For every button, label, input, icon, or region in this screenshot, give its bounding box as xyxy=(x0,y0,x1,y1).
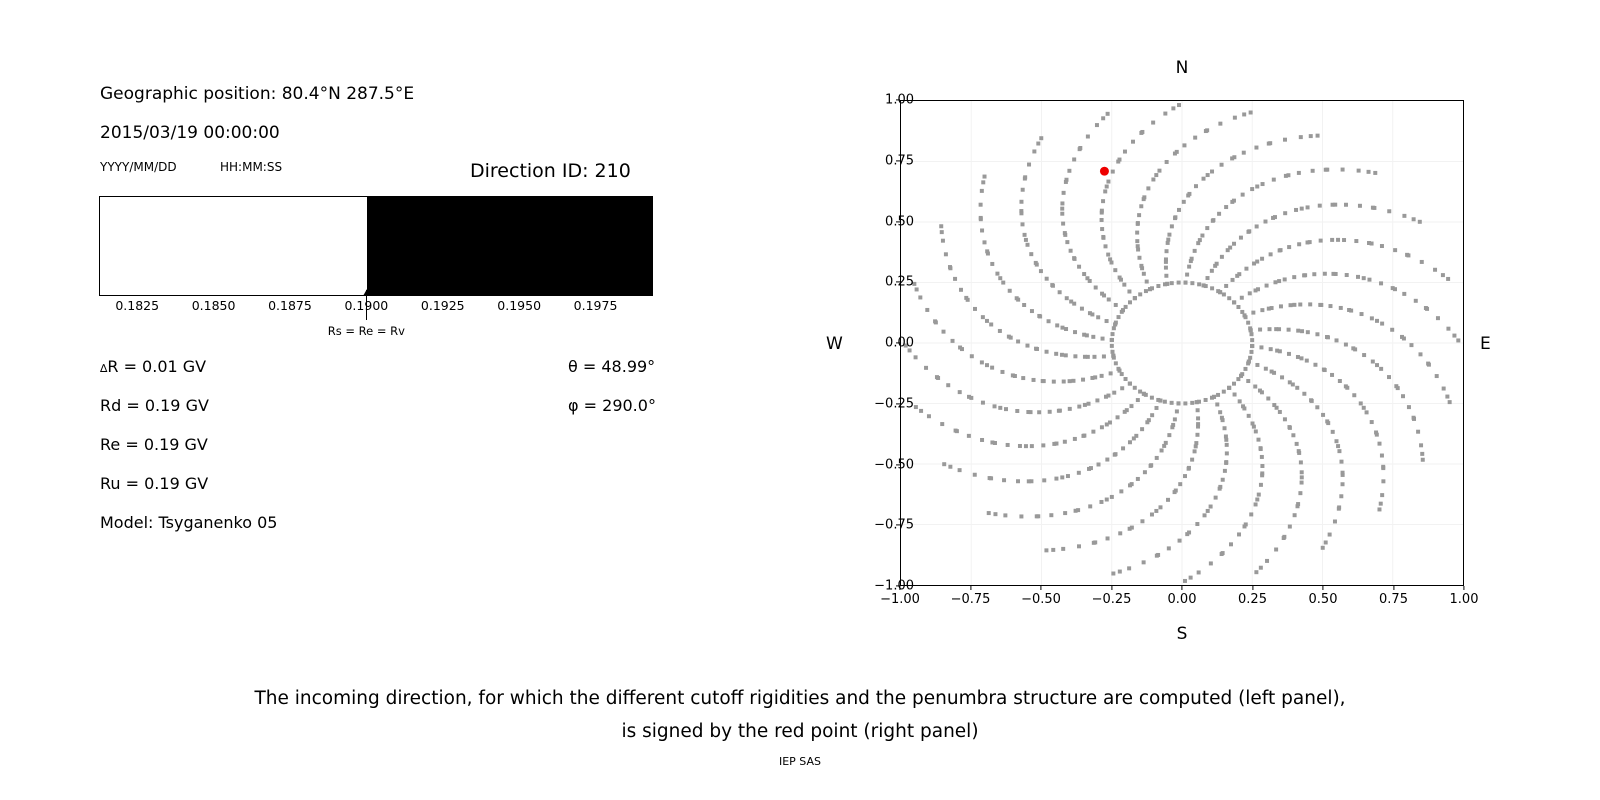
direction-point xyxy=(1052,380,1056,384)
direction-point xyxy=(1029,479,1033,483)
direction-point xyxy=(1379,502,1383,506)
direction-point xyxy=(1365,410,1369,414)
direction-point xyxy=(1140,427,1144,431)
direction-point xyxy=(1309,398,1313,402)
direction-point xyxy=(1359,401,1363,405)
scatter-xtick-mark xyxy=(1252,586,1253,590)
direction-point xyxy=(1246,379,1250,383)
direction-point xyxy=(1296,329,1300,333)
direction-point xyxy=(1240,296,1244,300)
datetime-text: 2015/03/19 00:00:00 xyxy=(100,123,280,143)
direction-point xyxy=(1023,233,1027,237)
direction-point xyxy=(1088,311,1092,315)
direction-point xyxy=(1052,442,1056,446)
direction-point xyxy=(1273,280,1277,284)
direction-point xyxy=(1092,541,1096,545)
direction-point xyxy=(1297,171,1301,175)
direction-point xyxy=(1128,483,1132,487)
direction-point xyxy=(1044,548,1048,552)
direction-point xyxy=(1216,289,1220,293)
direction-point xyxy=(1249,110,1253,114)
direction-point xyxy=(1114,303,1118,307)
scatter-ytick-mark xyxy=(896,403,900,404)
direction-point xyxy=(1300,481,1304,485)
direction-point xyxy=(1300,470,1304,474)
direction-point xyxy=(1217,212,1221,216)
direction-point xyxy=(1183,579,1187,583)
direction-point xyxy=(1379,281,1383,285)
direction-point xyxy=(1068,379,1072,383)
direction-point xyxy=(1082,333,1086,337)
direction-point xyxy=(1196,408,1200,412)
direction-point xyxy=(1341,168,1345,172)
scatter-ytick-mark xyxy=(896,525,900,526)
direction-point xyxy=(1336,444,1340,448)
direction-point xyxy=(1358,204,1362,208)
direction-point xyxy=(1155,554,1159,558)
direction-point xyxy=(1381,479,1385,483)
direction-point xyxy=(1019,514,1023,518)
direction-point xyxy=(1116,367,1120,371)
direction-point xyxy=(1178,482,1182,486)
time-format-hint: HH:MM:SS xyxy=(220,160,282,174)
direction-point xyxy=(1255,224,1259,228)
direction-point xyxy=(1323,272,1327,276)
direction-point xyxy=(1139,264,1143,268)
direction-point xyxy=(1260,308,1264,312)
direction-point xyxy=(1246,321,1250,325)
scatter-ytick-label: −0.25 xyxy=(874,396,914,411)
direction-point xyxy=(1254,429,1258,433)
direction-point xyxy=(1170,425,1174,429)
direction-point xyxy=(1263,220,1267,224)
direction-point xyxy=(1015,409,1019,413)
direction-point xyxy=(1183,474,1187,478)
scatter-plot-canvas xyxy=(901,101,1463,585)
direction-point xyxy=(1000,370,1004,374)
direction-point xyxy=(1308,302,1312,306)
direction-point xyxy=(1100,425,1104,429)
direction-point xyxy=(1120,386,1124,390)
direction-point xyxy=(1156,284,1160,288)
direction-point xyxy=(1260,390,1264,394)
direction-point xyxy=(1157,169,1161,173)
direction-point xyxy=(1390,328,1394,332)
direction-point xyxy=(1297,451,1301,455)
direction-point xyxy=(1250,338,1254,342)
direction-point xyxy=(1309,134,1313,138)
direction-point xyxy=(1196,241,1200,245)
direction-point xyxy=(1047,319,1051,323)
direction-point xyxy=(1406,253,1410,257)
direction-point xyxy=(1069,249,1073,253)
direction-point xyxy=(1194,441,1198,445)
direction-point xyxy=(951,339,955,343)
direction-point xyxy=(1238,399,1242,403)
direction-point xyxy=(1215,402,1219,406)
direction-point xyxy=(1061,222,1065,226)
direction-point xyxy=(1237,532,1241,536)
direction-point xyxy=(1248,291,1252,295)
figure-caption: The incoming direction, for which the di… xyxy=(0,682,1600,748)
direction-point xyxy=(1111,170,1115,174)
direction-point xyxy=(1019,200,1023,204)
direction-point xyxy=(1110,338,1114,342)
direction-point xyxy=(1236,377,1240,381)
direction-point xyxy=(1206,173,1210,177)
direction-point xyxy=(989,322,993,326)
direction-point xyxy=(1196,416,1200,420)
direction-point xyxy=(1062,380,1066,384)
direction-point xyxy=(1427,363,1431,367)
direction-point xyxy=(1214,496,1218,500)
direction-point xyxy=(1193,249,1197,253)
direction-point xyxy=(1038,314,1042,318)
direction-point xyxy=(1258,328,1262,332)
direction-point xyxy=(979,216,983,220)
direction-point xyxy=(1133,386,1137,390)
direction-point xyxy=(1177,208,1181,212)
direction-point xyxy=(1023,175,1027,179)
direction-point xyxy=(1246,230,1250,234)
direction-point xyxy=(1025,344,1029,348)
direction-point xyxy=(1336,238,1340,242)
direction-point xyxy=(1330,373,1334,377)
direction-point xyxy=(1244,315,1248,319)
direction-point xyxy=(1215,262,1219,266)
direction-point xyxy=(973,307,977,311)
direction-point xyxy=(1291,433,1295,437)
direction-point xyxy=(1149,463,1153,467)
direction-point xyxy=(1341,471,1345,475)
direction-point xyxy=(980,360,984,364)
direction-point xyxy=(1110,344,1114,348)
direction-point xyxy=(1242,112,1246,116)
direction-point xyxy=(1319,239,1323,243)
direction-point xyxy=(1073,437,1077,441)
direction-point xyxy=(1058,290,1062,294)
direction-point xyxy=(1338,379,1342,383)
direction-point xyxy=(1400,335,1404,339)
direction-point xyxy=(1401,394,1405,398)
direction-point xyxy=(1087,467,1091,471)
direction-point xyxy=(1224,460,1228,464)
direction-point xyxy=(1277,327,1281,331)
direction-point xyxy=(1060,212,1064,216)
direction-point xyxy=(1151,177,1155,181)
direction-point xyxy=(1287,425,1291,429)
direction-point xyxy=(1349,309,1353,313)
direction-point xyxy=(1195,433,1199,437)
direction-point xyxy=(1190,458,1194,462)
direction-point xyxy=(1029,252,1033,256)
direction-point xyxy=(940,230,944,234)
direction-point xyxy=(1374,430,1378,434)
direction-point xyxy=(1136,248,1140,252)
direction-point xyxy=(1101,199,1105,203)
direction-point xyxy=(981,180,985,184)
direction-point xyxy=(1151,121,1155,125)
direction-point xyxy=(1137,213,1141,217)
direction-point xyxy=(969,396,973,400)
direction-point xyxy=(1167,546,1171,550)
direction-point xyxy=(981,401,985,405)
direction-point xyxy=(1083,355,1087,359)
direction-point xyxy=(1295,386,1299,390)
direction-point xyxy=(1292,275,1296,279)
direction-point xyxy=(1064,327,1068,331)
direction-point xyxy=(1277,279,1281,283)
direction-point xyxy=(1354,239,1358,243)
direction-point xyxy=(1150,286,1154,290)
direction-point xyxy=(933,319,937,323)
direction-point xyxy=(1037,410,1041,414)
direction-point xyxy=(1260,464,1264,468)
param-re: Re = 0.19 GV xyxy=(100,435,208,454)
direction-point xyxy=(1088,279,1092,283)
direction-point xyxy=(1203,513,1207,517)
direction-point xyxy=(1178,539,1182,543)
direction-point xyxy=(1170,224,1174,228)
direction-point xyxy=(1328,304,1332,308)
direction-point xyxy=(1240,372,1244,376)
direction-point xyxy=(1221,478,1225,482)
geographic-position-text: Geographic position: 80.4°N 287.5°E xyxy=(100,84,414,104)
direction-point xyxy=(1048,410,1052,414)
direction-point xyxy=(1318,204,1322,208)
direction-point xyxy=(1272,371,1276,375)
direction-point xyxy=(1193,136,1197,140)
direction-point xyxy=(958,390,962,394)
direction-point xyxy=(1021,188,1025,192)
direction-point xyxy=(1339,306,1343,310)
caption-line-1: The incoming direction, for which the di… xyxy=(0,682,1600,715)
direction-point xyxy=(1375,363,1379,367)
direction-point xyxy=(1362,406,1366,410)
direction-point xyxy=(1210,170,1214,174)
direction-point xyxy=(1391,286,1395,290)
direction-point xyxy=(1051,548,1055,552)
direction-point xyxy=(1230,156,1234,160)
direction-point xyxy=(1218,122,1222,126)
direction-point xyxy=(1061,326,1065,330)
direction-point xyxy=(1433,268,1437,272)
direction-point xyxy=(1296,502,1300,506)
direction-point xyxy=(1259,483,1263,487)
direction-point xyxy=(1064,180,1068,184)
direction-point xyxy=(1194,184,1198,188)
direction-point xyxy=(1378,442,1382,446)
direction-point xyxy=(1185,273,1189,277)
direction-point xyxy=(1254,146,1258,150)
direction-point xyxy=(1242,406,1246,410)
direction-point xyxy=(993,404,997,408)
direction-point xyxy=(1049,513,1053,517)
direction-point xyxy=(1154,509,1158,513)
direction-point xyxy=(1232,199,1236,203)
direction-point xyxy=(1324,540,1328,544)
direction-point xyxy=(1375,319,1379,323)
direction-point xyxy=(1299,135,1303,139)
direction-point xyxy=(1099,500,1103,504)
scatter-ytick-mark xyxy=(896,464,900,465)
direction-point xyxy=(1244,267,1248,271)
direction-point xyxy=(1142,195,1146,199)
param-rd: Rd = 0.19 GV xyxy=(100,396,209,415)
direction-point xyxy=(1288,525,1292,529)
direction-point xyxy=(1187,192,1191,196)
direction-point xyxy=(1167,233,1171,237)
direction-point xyxy=(1372,206,1376,210)
direction-point xyxy=(1054,477,1058,481)
direction-point xyxy=(1136,477,1140,481)
penumbra-structure-plot: 0.18250.18500.18750.19000.19250.19500.19… xyxy=(99,196,653,296)
direction-point xyxy=(1402,214,1406,218)
direction-point xyxy=(1216,393,1220,397)
direction-point xyxy=(1311,169,1315,173)
direction-point xyxy=(1416,430,1420,434)
direction-point xyxy=(1133,296,1137,300)
direction-point xyxy=(1232,242,1236,246)
direction-point xyxy=(1138,390,1142,394)
direction-point xyxy=(1045,277,1049,281)
direction-point xyxy=(1197,570,1201,574)
direction-point xyxy=(1189,576,1193,580)
direction-point xyxy=(1105,458,1109,462)
direction-point xyxy=(1092,355,1096,359)
direction-point xyxy=(919,409,923,413)
direction-point xyxy=(980,189,984,193)
direction-point xyxy=(1283,138,1287,142)
direction-point xyxy=(1137,256,1141,260)
direction-point xyxy=(1077,265,1081,269)
direction-point xyxy=(1051,284,1055,288)
direction-point xyxy=(1242,151,1246,155)
direction-point xyxy=(1136,222,1140,226)
direction-point xyxy=(1100,227,1104,231)
direction-point xyxy=(1061,547,1065,551)
direction-point xyxy=(1328,533,1332,537)
direction-point xyxy=(1227,386,1231,390)
direction-point xyxy=(985,319,989,323)
direction-point xyxy=(1039,269,1043,273)
direction-point xyxy=(1120,372,1124,376)
direction-point xyxy=(1138,292,1142,296)
direction-point xyxy=(946,383,950,387)
direction-point xyxy=(1360,312,1364,316)
direction-point xyxy=(1419,443,1423,447)
direction-point xyxy=(941,239,945,243)
direction-point xyxy=(1072,302,1076,306)
direction-point xyxy=(1330,238,1334,242)
direction-point xyxy=(1073,354,1077,358)
direction-point xyxy=(1062,191,1066,195)
direction-point xyxy=(1315,405,1319,409)
direction-point xyxy=(1256,287,1260,291)
direction-point xyxy=(1339,494,1343,498)
direction-point xyxy=(1294,208,1298,212)
direction-point xyxy=(1019,211,1023,215)
direction-point xyxy=(1112,326,1116,330)
scatter-xtick-mark xyxy=(1393,586,1394,590)
direction-point xyxy=(1225,451,1229,455)
scatter-xtick-mark xyxy=(1322,586,1323,590)
direction-point xyxy=(1308,240,1312,244)
direction-point xyxy=(1063,231,1067,235)
direction-point xyxy=(1197,282,1201,286)
direction-point xyxy=(1337,507,1341,511)
direction-point xyxy=(1106,253,1110,257)
direction-point xyxy=(1129,404,1133,408)
direction-point xyxy=(1418,220,1422,224)
direction-point xyxy=(995,272,999,276)
direction-point xyxy=(1222,390,1226,394)
direction-point xyxy=(1302,392,1306,396)
direction-point xyxy=(1264,367,1268,371)
direction-point xyxy=(1054,352,1058,356)
direction-point xyxy=(1173,216,1177,220)
direction-point xyxy=(1143,470,1147,474)
direction-point xyxy=(1425,307,1429,311)
direction-point xyxy=(1039,136,1043,140)
direction-point xyxy=(1130,526,1134,530)
direction-point xyxy=(983,240,987,244)
direction-point xyxy=(1206,276,1210,280)
direction-point xyxy=(1337,449,1341,453)
direction-point xyxy=(1118,276,1122,280)
direction-point xyxy=(1116,160,1120,164)
direction-point xyxy=(998,329,1002,333)
direction-point xyxy=(1018,444,1022,448)
direction-point xyxy=(1123,150,1127,154)
direction-point xyxy=(1344,203,1348,207)
direction-point xyxy=(1190,281,1194,285)
direction-point xyxy=(1380,454,1384,458)
direction-point xyxy=(1367,241,1371,245)
direction-point xyxy=(1076,508,1080,512)
direction-point xyxy=(1060,207,1064,211)
direction-point xyxy=(1077,471,1081,475)
direction-point xyxy=(1078,146,1082,150)
direction-point xyxy=(1243,367,1247,371)
direction-point xyxy=(998,406,1002,410)
direction-point xyxy=(1445,395,1449,399)
direction-point xyxy=(1183,401,1187,405)
direction-point xyxy=(1315,332,1319,336)
scatter-xtick-label: 0.25 xyxy=(1238,592,1267,607)
direction-point xyxy=(1260,257,1264,261)
direction-point xyxy=(1114,452,1118,456)
penumbra-bar xyxy=(99,196,653,296)
scatter-xtick-label: 0.50 xyxy=(1309,592,1338,607)
direction-point xyxy=(1298,491,1302,495)
direction-point xyxy=(1027,163,1031,167)
direction-point xyxy=(1446,327,1450,331)
direction-point xyxy=(1177,281,1181,285)
direction-point xyxy=(1101,337,1105,341)
direction-point xyxy=(1106,180,1110,184)
direction-point xyxy=(1259,345,1263,349)
direction-point xyxy=(1016,339,1020,343)
direction-point xyxy=(1380,244,1384,248)
direction-point xyxy=(1026,243,1030,247)
direction-point xyxy=(987,511,991,515)
direction-point xyxy=(1255,184,1259,188)
direction-point xyxy=(1187,530,1191,534)
penumbra-xtick-label: 0.1825 xyxy=(115,298,159,313)
direction-point xyxy=(1313,363,1317,367)
direction-point xyxy=(1088,504,1092,508)
